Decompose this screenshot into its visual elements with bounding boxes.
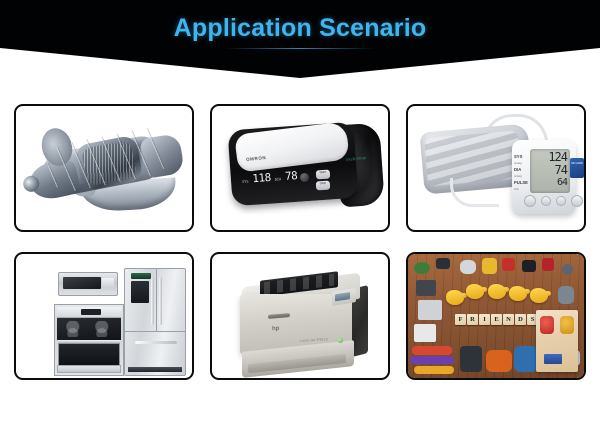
toy-figure xyxy=(542,258,554,271)
scenario-card-omron-bp-monitor[interactable]: OMRON Intelli Wrap SYS 118 DIA 78 Start … xyxy=(210,104,390,232)
toy-figure xyxy=(502,258,515,271)
fridge-handle-right xyxy=(159,277,162,325)
bp-measurement-labels: SYS mmHg DIA mmHg PULSE /min xyxy=(514,152,530,191)
cuff-bp-monitor-image: SYS mmHg DIA mmHg PULSE /min 124 74 64 S… xyxy=(408,106,584,230)
lcd-pulse-value: 64 xyxy=(533,177,567,189)
fridge-water-dispenser xyxy=(131,281,149,303)
toy-figure xyxy=(460,346,482,372)
scenario-card-toys-collection[interactable]: FRIENDS xyxy=(406,252,586,380)
range-control-panel xyxy=(57,307,121,318)
fridge-door-split xyxy=(156,269,157,331)
sys-label: SYS xyxy=(514,152,530,162)
fridge-base-grille xyxy=(128,367,182,372)
laser-printer-image: hp LaserJet P3015 xyxy=(212,254,388,378)
toy-duck xyxy=(488,284,506,299)
toy-duck xyxy=(466,284,484,299)
scenario-card-kitchen-appliances[interactable] xyxy=(14,252,194,380)
fridge-handle-left xyxy=(151,277,154,325)
electric-range-oven xyxy=(54,304,124,376)
pulse-label: PULSE xyxy=(514,178,530,188)
toy-picture-book xyxy=(536,310,578,372)
scrabble-tile: R xyxy=(467,314,478,325)
scenario-card-cuff-bp-monitor[interactable]: SYS mmHg DIA mmHg PULSE /min 124 74 64 S… xyxy=(406,104,586,232)
bp-monitor-buttons xyxy=(524,195,583,207)
sys-value: 118 xyxy=(252,172,271,184)
sys-tag: SYS xyxy=(242,180,249,185)
microwave-oven xyxy=(58,272,118,296)
toy-block xyxy=(414,324,436,342)
pulse-unit: /min xyxy=(514,188,530,191)
toy-figure xyxy=(514,346,538,372)
omron-bp-monitor-image: OMRON Intelli Wrap SYS 118 DIA 78 Start … xyxy=(212,106,388,230)
turbine-engine-image xyxy=(16,106,192,230)
cuff-air-tube-lower xyxy=(450,178,499,207)
dia-tag: DIA xyxy=(275,178,282,183)
scenario-card-turbine-engine[interactable] xyxy=(14,104,194,232)
toy-figure xyxy=(522,260,536,272)
page-title: Application Scenario xyxy=(0,14,600,43)
toy-figure xyxy=(558,286,574,304)
oven-storage-drawer xyxy=(57,365,121,373)
toy-figure xyxy=(562,264,573,275)
toy-block xyxy=(418,300,442,320)
range-cooktop xyxy=(57,318,121,340)
bp-monitor-lcd-display: 124 74 64 xyxy=(530,149,570,193)
footer-whitespace xyxy=(0,382,600,432)
toys-collection-image: FRIENDS xyxy=(408,254,584,378)
toy-block xyxy=(416,280,436,296)
bp-memory-button xyxy=(524,195,536,207)
bp-mode-button xyxy=(556,196,566,206)
kitchen-appliances-image xyxy=(16,254,192,378)
toy-crayon xyxy=(412,346,452,355)
toy-figure xyxy=(486,350,512,372)
dia-label: DIA xyxy=(514,165,530,175)
scenario-card-laser-printer[interactable]: hp LaserJet P3015 xyxy=(210,252,390,380)
toy-figure xyxy=(436,258,450,269)
scrabble-tile: F xyxy=(455,314,466,325)
oven-door-window xyxy=(58,343,120,367)
bp-monitor-start-button: Start xyxy=(316,170,331,180)
scrabble-tiles-friends: FRIENDS xyxy=(455,314,538,325)
fridge-freezer-divider xyxy=(125,331,185,332)
dia-value: 78 xyxy=(285,170,298,182)
title-underline-decoration xyxy=(225,48,375,49)
book-label xyxy=(544,354,562,364)
toy-figure xyxy=(460,260,476,274)
scrabble-tile: I xyxy=(479,314,490,325)
lcd-dia-value: 74 xyxy=(533,164,567,177)
toy-figure xyxy=(482,258,497,274)
bp-monitor-unit: SYS mmHg DIA mmHg PULSE /min 124 74 64 S… xyxy=(512,140,576,214)
sd-card-slot-label: SD CARD xyxy=(570,158,584,178)
fridge-control-display xyxy=(131,273,151,279)
bp-set-button xyxy=(541,196,551,206)
bp-monitor-stop-button: Stop xyxy=(316,181,331,191)
scrabble-tile: N xyxy=(503,314,514,325)
toy-crayon xyxy=(410,356,454,364)
scenario-grid: OMRON Intelli Wrap SYS 118 DIA 78 Start … xyxy=(14,104,586,380)
bp-start-button xyxy=(571,195,583,207)
scrabble-tile: D xyxy=(515,314,526,325)
toy-duck xyxy=(446,290,464,305)
toy-duck xyxy=(530,288,548,303)
toy-figure xyxy=(414,262,430,274)
french-door-refrigerator xyxy=(124,268,186,376)
toy-duck xyxy=(509,286,527,301)
freezer-drawer-handle xyxy=(135,341,177,344)
toy-crayon xyxy=(414,366,454,374)
hp-brand-logo: hp xyxy=(272,326,279,332)
scrabble-tile: E xyxy=(491,314,502,325)
